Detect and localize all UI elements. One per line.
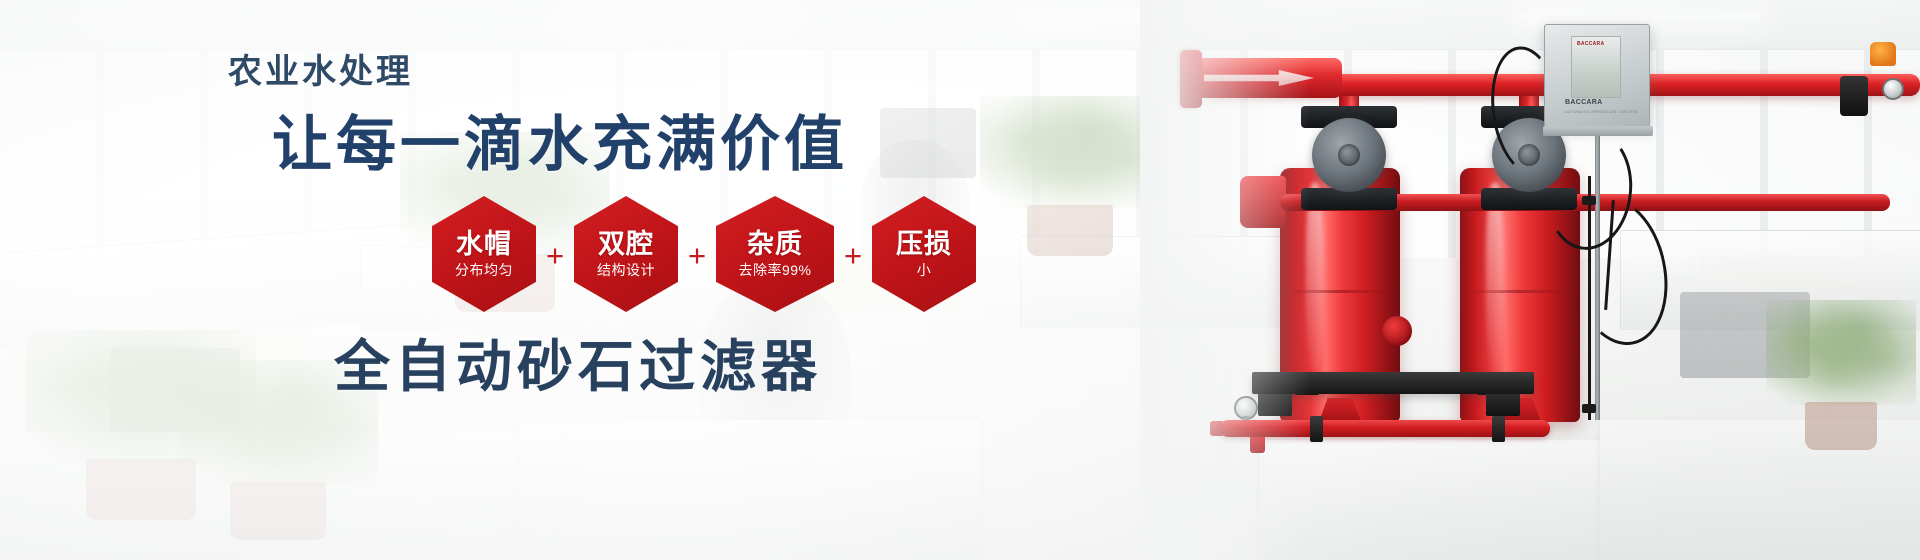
control-tubing-vertical-1 — [1588, 176, 1591, 420]
feature-badge-shuang-qiang: 双腔 结构设计 — [574, 196, 678, 312]
backwash-valve-left — [1312, 118, 1386, 192]
photo-left-feather — [1140, 0, 1310, 560]
base-foot-right — [1486, 394, 1520, 416]
feature-badge-shui-mao: 水帽 分布均匀 — [432, 196, 536, 312]
tank-side-port — [1382, 316, 1412, 346]
feature-badge-za-zhi: 杂质 去除率99% — [716, 196, 834, 312]
plus-separator-2: + — [678, 240, 716, 271]
feature-badge-row: 水帽 分布均匀 + 双腔 结构设计 + 杂质 去除率99% + 压损 小 — [432, 196, 976, 312]
controller-brand-label: BACCARA — [1565, 99, 1603, 106]
tubing-clip-upper — [1582, 196, 1596, 205]
pipe-clamp-left — [1310, 416, 1323, 442]
feature-badge-title: 杂质 — [747, 230, 803, 258]
plus-separator-3: + — [834, 240, 872, 271]
baccara-controller-box: BACCARA BACCARA AUTOMATIC IRRIGATION CON… — [1544, 24, 1650, 128]
feature-badge-title: 双腔 — [598, 230, 654, 258]
controller-mount-bracket — [1543, 126, 1653, 136]
pressure-gauge-right — [1882, 78, 1904, 100]
banner-eyebrow: 农业水处理 — [228, 44, 413, 93]
tank-seam-right — [1460, 290, 1580, 293]
feature-badge-title: 压损 — [896, 230, 952, 258]
air-release-valve-icon — [1870, 42, 1896, 66]
product-photo-sand-filter: BACCARA BACCARA AUTOMATIC IRRIGATION CON… — [1140, 0, 1920, 560]
feature-badge-subtitle: 分布均匀 — [455, 263, 513, 278]
feature-badge-ya-sun: 压损 小 — [872, 196, 976, 312]
feature-badge-subtitle: 结构设计 — [597, 263, 655, 278]
banner-product-name: 全自动砂石过滤器 — [334, 322, 822, 403]
feature-badge-subtitle: 小 — [917, 263, 932, 278]
plus-separator-1: + — [536, 240, 574, 271]
controller-logo-small: BACCARA — [1577, 41, 1604, 47]
hero-banner: BACCARA BACCARA AUTOMATIC IRRIGATION CON… — [0, 0, 1920, 560]
feature-badge-subtitle: 去除率99% — [738, 263, 811, 278]
feature-badge-title: 水帽 — [456, 230, 512, 258]
pipe-clamp-right — [1492, 416, 1505, 442]
controller-tagline: AUTOMATIC IRRIGATION CONTROL — [1565, 109, 1639, 114]
banner-headline: 让每一滴水充满价值 — [272, 96, 848, 183]
banner-copy-block: 农业水处理 让每一滴水充满价值 水帽 分布均匀 + 双腔 结构设计 + 杂质 去… — [0, 0, 1180, 560]
tubing-clip-lower — [1582, 404, 1596, 413]
right-side-fitting — [1840, 76, 1868, 116]
